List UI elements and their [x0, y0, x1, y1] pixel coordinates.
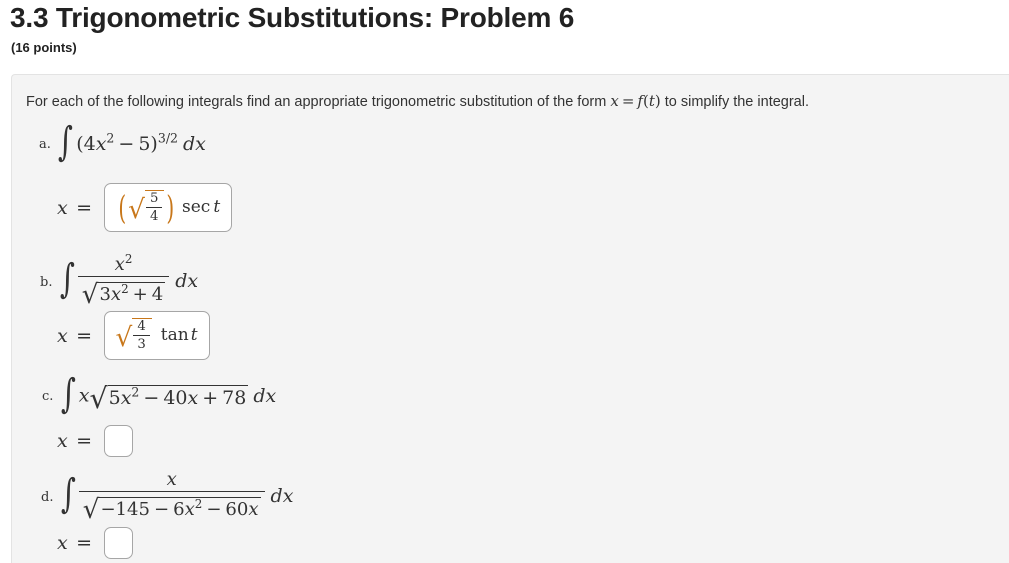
problem-a-expression: ∫(4x2−5)3/2dx — [55, 133, 206, 155]
answer-equals: = — [76, 430, 92, 452]
radicand: −145−6x2−60x — [99, 497, 260, 520]
fraction: x2 √3x2+4 — [78, 254, 170, 308]
problem-c-answer-row: x = — [57, 425, 133, 457]
differential: dx — [169, 270, 198, 292]
power-exponent: 3/2 — [158, 131, 178, 146]
problem-d-statement: d. ∫ x √−145−6x2−60x dx — [41, 470, 293, 524]
fraction-numerator: x — [79, 469, 265, 491]
radical-sign: √ — [128, 195, 145, 225]
problem-content-panel: For each of the following integrals find… — [11, 74, 1009, 563]
coefficient: 3 — [99, 284, 110, 305]
exponent: 2 — [121, 281, 129, 295]
trig-function: tan — [161, 325, 189, 345]
answer-variable: x — [57, 430, 68, 452]
variable: x — [111, 284, 121, 305]
instructions-lead: For each of the following integrals find… — [26, 94, 610, 110]
answer-input-a[interactable]: (√54)sect — [104, 183, 233, 232]
minus-operator-1: − — [150, 499, 173, 520]
problem-a-label: a. — [39, 137, 51, 152]
answer-variable: x — [57, 532, 68, 554]
plus-operator: + — [129, 284, 152, 305]
paren-close: ) — [150, 133, 157, 155]
radical-sign: √ — [82, 280, 99, 310]
fraction-numerator: x2 — [78, 254, 170, 276]
term1-coefficient: 5 — [109, 387, 121, 409]
term2-variable: x — [188, 387, 199, 409]
fraction-denominator: 3 — [133, 335, 149, 352]
radical-sign: √ — [89, 382, 107, 415]
square-root-icon: √43 — [116, 318, 152, 353]
constant: 5 — [138, 133, 150, 155]
minus-operator: − — [114, 133, 138, 155]
square-root-icon: √3x2+4 — [82, 278, 166, 308]
problem-c-statement: c. ∫x√5x2−40x+78dx — [42, 380, 276, 413]
problem-d-answer-row: x = — [57, 527, 133, 559]
differential: dx — [265, 485, 294, 507]
term3-variable: x — [248, 499, 258, 520]
paren-open: ( — [76, 133, 83, 155]
problem-c-label: c. — [42, 389, 53, 404]
fraction-denominator: 4 — [146, 207, 162, 224]
problem-b-expression: ∫ x2 √3x2+4 dx — [57, 255, 198, 309]
answer-equals: = — [76, 197, 92, 219]
differential: dx — [248, 385, 276, 407]
radicand: 54 — [145, 190, 164, 225]
answer-input-c[interactable] — [104, 425, 133, 457]
numerator-variable: x — [115, 254, 125, 275]
instructions-math-x: x — [610, 92, 618, 110]
term3-constant: 78 — [222, 387, 246, 409]
term2-variable: x — [185, 499, 195, 520]
trig-function: sec — [182, 197, 210, 217]
square-root-icon: √−145−6x2−60x — [83, 493, 261, 523]
problem-b-label: b. — [40, 275, 52, 290]
fraction-denominator: √3x2+4 — [78, 276, 170, 308]
instructions-text: For each of the following integrals find… — [26, 92, 809, 110]
fraction-numerator: 4 — [133, 319, 149, 335]
fraction-numerator: 5 — [146, 191, 162, 207]
fraction-denominator: √−145−6x2−60x — [79, 491, 265, 523]
paren-open-icon: ( — [118, 200, 126, 218]
problem-b-statement: b. ∫ x2 √3x2+4 dx — [40, 255, 198, 309]
numerator-exponent: 2 — [125, 252, 133, 266]
problem-a-statement: a. ∫(4x2−5)3/2dx — [39, 133, 206, 155]
constant: 4 — [152, 284, 163, 305]
trig-argument: t — [189, 325, 198, 345]
points-label: (16 points) — [11, 40, 77, 55]
answer-equals: = — [76, 532, 92, 554]
fraction: 54 — [146, 191, 162, 224]
radical-sign: √ — [83, 495, 100, 525]
leading-variable: x — [79, 385, 90, 407]
answer-variable: x — [57, 197, 68, 219]
minus-operator: − — [139, 387, 163, 409]
variable: x — [96, 133, 107, 155]
term2-coefficient: 40 — [163, 387, 187, 409]
problem-page: 3.3 Trigonometric Substitutions: Problem… — [0, 0, 1009, 563]
problem-d-label: d. — [41, 490, 53, 505]
instructions-tail: to simplify the integral. — [661, 94, 809, 110]
square-root-icon: √54 — [128, 190, 164, 225]
paren-close-icon: ) — [167, 200, 175, 218]
numerator-variable: x — [167, 469, 177, 490]
minus-operator-2: − — [202, 499, 225, 520]
instructions-math-equals: = — [619, 92, 638, 110]
fraction: x √−145−6x2−60x — [79, 469, 265, 523]
fraction: 43 — [133, 319, 149, 352]
answer-input-d[interactable] — [104, 527, 133, 559]
term1-constant: −145 — [100, 499, 150, 520]
square-root-icon: √5x2−40x+78 — [89, 380, 248, 413]
term3-coefficient: 60 — [225, 499, 248, 520]
term2-coefficient: 6 — [173, 499, 184, 520]
radicand: 3x2+4 — [98, 282, 165, 305]
radical-sign: √ — [116, 323, 133, 353]
page-title: 3.3 Trigonometric Substitutions: Problem… — [10, 2, 574, 34]
plus-operator: + — [198, 387, 222, 409]
answer-input-b[interactable]: √43tant — [104, 311, 210, 360]
answer-equals: = — [76, 325, 92, 347]
answer-variable: x — [57, 325, 68, 347]
radicand: 43 — [132, 318, 151, 353]
problem-d-expression: ∫ x √−145−6x2−60x dx — [58, 470, 294, 524]
coefficient: 4 — [84, 133, 96, 155]
problem-a-answer-row: x = (√54)sect — [57, 183, 232, 232]
differential: dx — [178, 133, 206, 155]
trig-argument: t — [210, 197, 220, 217]
radicand: 5x2−40x+78 — [108, 385, 249, 409]
problem-b-answer-row: x = √43tant — [57, 311, 210, 360]
term1-variable: x — [121, 387, 132, 409]
problem-c-expression: ∫x√5x2−40x+78dx — [58, 380, 276, 413]
